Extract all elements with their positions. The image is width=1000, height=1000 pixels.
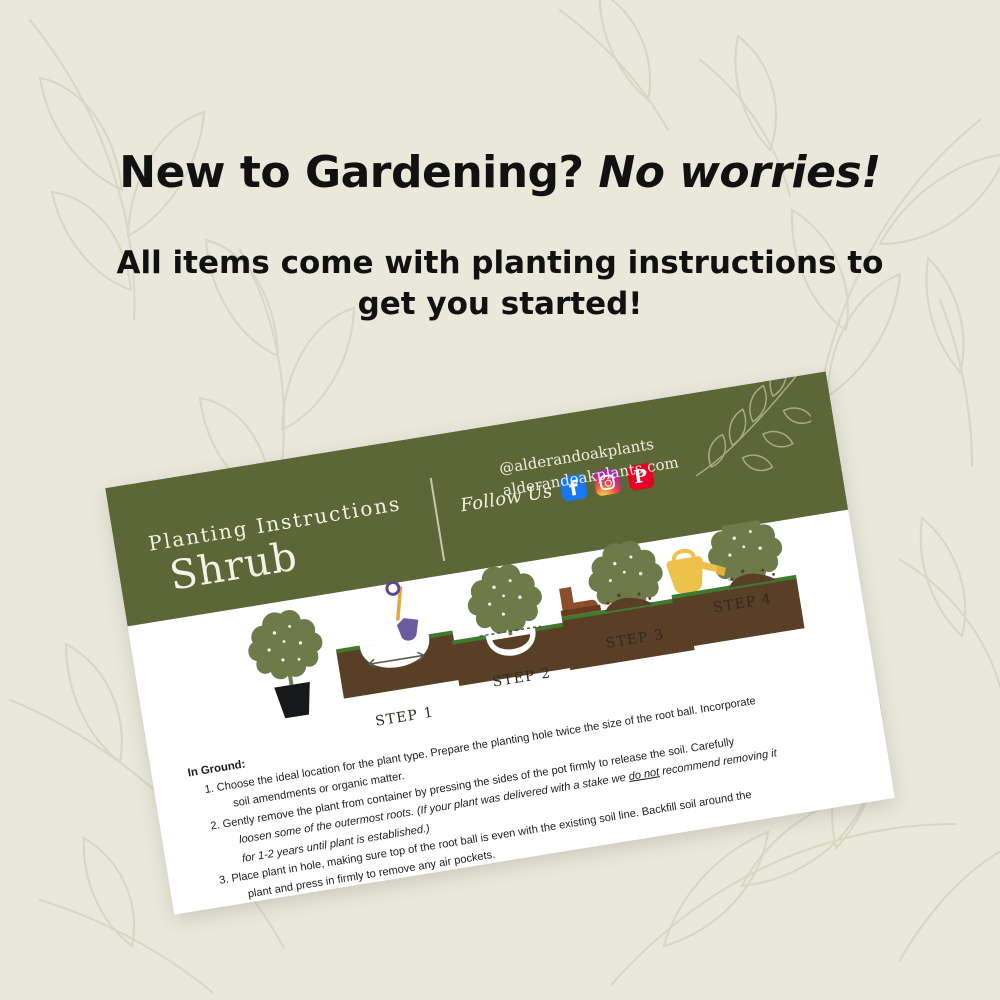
do-not-emphasis: do not — [628, 766, 660, 783]
shovel-icon — [386, 579, 421, 642]
soil-with-hole — [336, 630, 460, 698]
headline-part-1: New to Gardening? — [119, 147, 583, 198]
page-headline: New to Gardening? No worries! — [0, 148, 1000, 197]
headline-block: New to Gardening? No worries! All items … — [0, 148, 1000, 325]
leaf-branch-decoration-icon — [675, 371, 820, 494]
header-divider — [430, 478, 445, 561]
headline-part-2: No worries! — [598, 147, 880, 198]
note-text: Note: Plants may drop leaves during and … — [226, 900, 892, 915]
page-subheadline: All items come with planting instruction… — [0, 243, 1000, 325]
planting-instruction-card: Planting Instructions Shrub Follow Us f … — [105, 371, 895, 914]
step-illustration-water-plant: STEP 4 — [660, 515, 809, 662]
